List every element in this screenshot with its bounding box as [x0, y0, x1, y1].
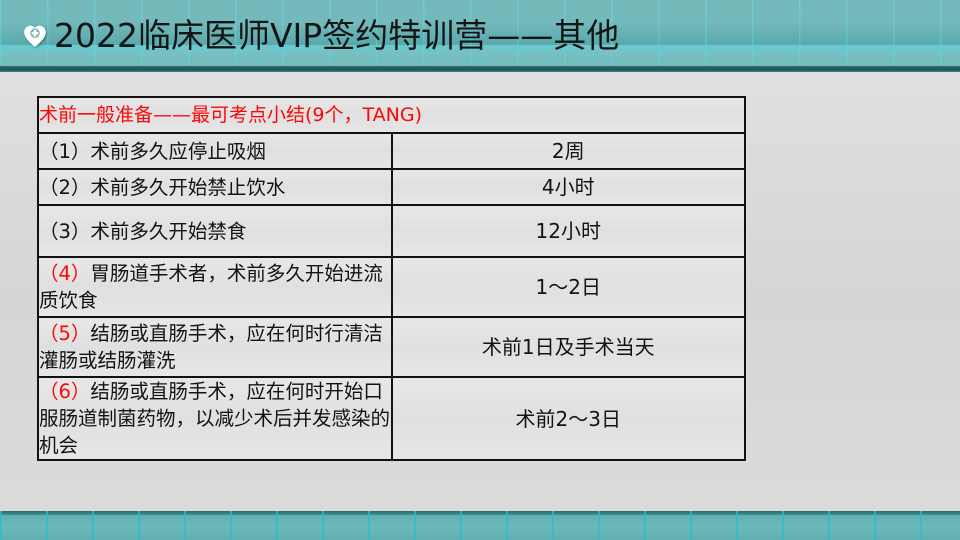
row-number: （1）: [39, 140, 90, 163]
answer-cell: 术前2～3日: [392, 377, 746, 460]
bottom-band-vertical-grid: [0, 511, 960, 540]
table-row: （5）结肠或直肠手术，应在何时行清洁灌肠或结肠灌洗 术前1日及手术当天: [38, 317, 745, 377]
bottom-decorative-band: [0, 511, 960, 540]
answer-text: 术前2～3日: [516, 407, 621, 431]
question-text: 结肠或直肠手术，应在何时开始口服肠道制菌药物，以减少术后并发感染的机会: [39, 380, 390, 457]
slide-title-row: 2022临床医师VIP签约特训营——其他: [22, 13, 619, 59]
answer-cell: 1～2日: [392, 257, 746, 317]
question-cell: （1）术前多久应停止吸烟: [38, 133, 392, 169]
content-table-wrap: 术前一般准备——最可考点小结(9个，TANG) （1）术前多久应停止吸烟 2周 …: [37, 96, 746, 461]
question-text: 术前多久应停止吸烟: [90, 140, 266, 163]
answer-text: 12小时: [536, 219, 601, 243]
table-row: （6）结肠或直肠手术，应在何时开始口服肠道制菌药物，以减少术后并发感染的机会 术…: [38, 377, 745, 460]
heart-plus-icon: [22, 23, 48, 49]
question-cell: （4）胃肠道手术者，术前多久开始进流质饮食: [38, 257, 392, 317]
question-cell: （6）结肠或直肠手术，应在何时开始口服肠道制菌药物，以减少术后并发感染的机会: [38, 377, 392, 460]
answer-cell: 2周: [392, 133, 746, 169]
row-number: （4）: [39, 262, 90, 285]
table-header-cell: 术前一般准备——最可考点小结(9个，TANG): [38, 97, 745, 133]
answer-text: 1～2日: [536, 275, 601, 299]
exam-points-table: 术前一般准备——最可考点小结(9个，TANG) （1）术前多久应停止吸烟 2周 …: [37, 96, 746, 461]
row-number: （2）: [39, 176, 90, 199]
table-row: （2）术前多久开始禁止饮水 4小时: [38, 169, 745, 205]
slide-canvas: 2022临床医师VIP签约特训营——其他 术前一般准备——最可考点小结(9个，T…: [0, 0, 960, 540]
question-cell: （2）术前多久开始禁止饮水: [38, 169, 392, 205]
question-cell: （5）结肠或直肠手术，应在何时行清洁灌肠或结肠灌洗: [38, 317, 392, 377]
question-text: 术前多久开始禁食: [90, 220, 246, 243]
answer-text: 4小时: [542, 175, 595, 199]
page-title: 2022临床医师VIP签约特训营——其他: [54, 17, 619, 55]
answer-text: 2周: [552, 139, 585, 163]
top-band-bottom-edge: [0, 66, 960, 72]
answer-cell: 4小时: [392, 169, 746, 205]
question-text: 术前多久开始禁止饮水: [90, 176, 285, 199]
table-row: （1）术前多久应停止吸烟 2周: [38, 133, 745, 169]
table-header-row: 术前一般准备——最可考点小结(9个，TANG): [38, 97, 745, 133]
answer-cell: 术前1日及手术当天: [392, 317, 746, 377]
table-row: （4）胃肠道手术者，术前多久开始进流质饮食 1～2日: [38, 257, 745, 317]
question-text: 胃肠道手术者，术前多久开始进流质饮食: [39, 262, 383, 312]
row-number: （3）: [39, 220, 90, 243]
question-cell: （3）术前多久开始禁食: [38, 205, 392, 257]
table-row: （3）术前多久开始禁食 12小时: [38, 205, 745, 257]
question-text: 结肠或直肠手术，应在何时行清洁灌肠或结肠灌洗: [39, 322, 383, 372]
row-number: （5）: [39, 322, 90, 345]
answer-cell: 12小时: [392, 205, 746, 257]
table-header-text: 术前一般准备——最可考点小结(9个，TANG): [39, 104, 422, 126]
answer-text: 术前1日及手术当天: [482, 335, 655, 359]
row-number: （6）: [39, 380, 90, 403]
